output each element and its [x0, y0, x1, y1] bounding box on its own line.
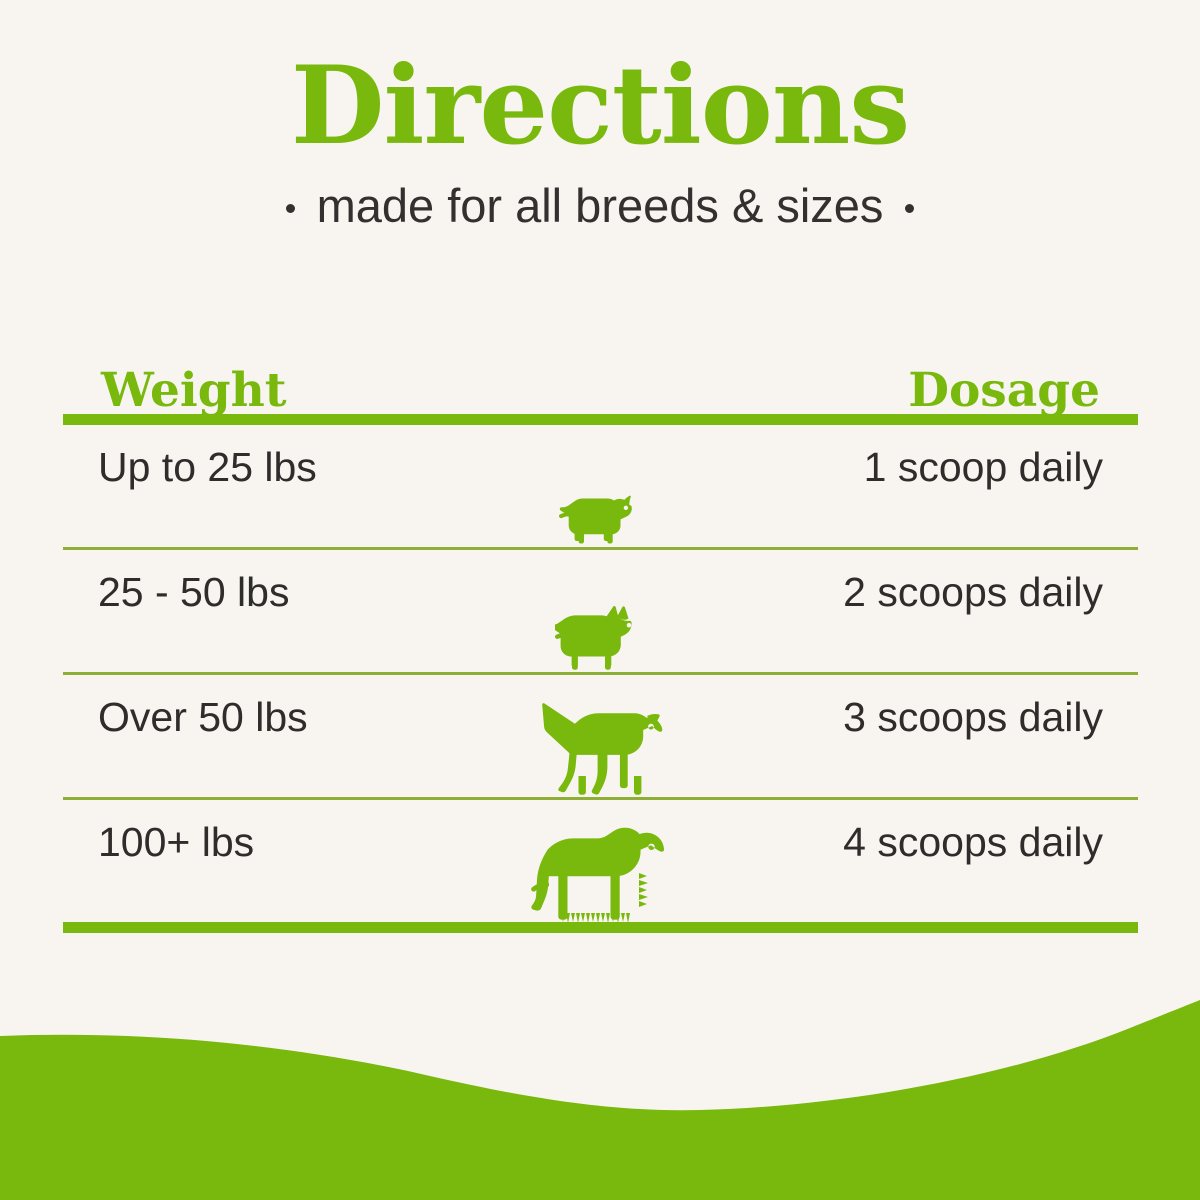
cell-weight: Up to 25 lbs [98, 447, 317, 488]
table-row: Up to 25 lbs 1 scoop daily [63, 425, 1138, 547]
dosage-table: Weight Dosage Up to 25 lbs 1 scoop daily… [63, 326, 1138, 933]
table-bottom-rule [63, 922, 1138, 933]
cell-dosage: 1 scoop daily [864, 447, 1103, 488]
cell-dosage: 4 scoops daily [843, 822, 1103, 863]
subtitle-row: made for all breeds & sizes [0, 178, 1200, 233]
cell-weight: 25 - 50 lbs [98, 572, 289, 613]
cell-dosage: 3 scoops daily [843, 697, 1103, 738]
cell-dosage: 2 scoops daily [843, 572, 1103, 613]
bullet-dot-right-icon [905, 204, 914, 213]
page-subtitle: made for all breeds & sizes [317, 178, 884, 233]
page-title: Directions [0, 52, 1200, 160]
cell-weight: Over 50 lbs [98, 697, 308, 738]
table-row: 25 - 50 lbs 2 scoops daily [63, 550, 1138, 672]
header: Directions made for all breeds & sizes [0, 52, 1200, 233]
directions-dosage-card: Directions made for all breeds & sizes W… [0, 0, 1200, 1200]
table-row: 100+ lbs 4 scoops daily [63, 800, 1138, 922]
bullet-dot-left-icon [286, 204, 295, 213]
column-header-weight: Weight [101, 367, 286, 414]
column-header-dosage: Dosage [908, 367, 1100, 414]
table-header-row: Weight Dosage [63, 326, 1138, 414]
footer-wave-decoration [0, 1000, 1200, 1200]
cell-weight: 100+ lbs [98, 822, 254, 863]
table-row: Over 50 lbs 3 scoops daily [63, 675, 1138, 797]
